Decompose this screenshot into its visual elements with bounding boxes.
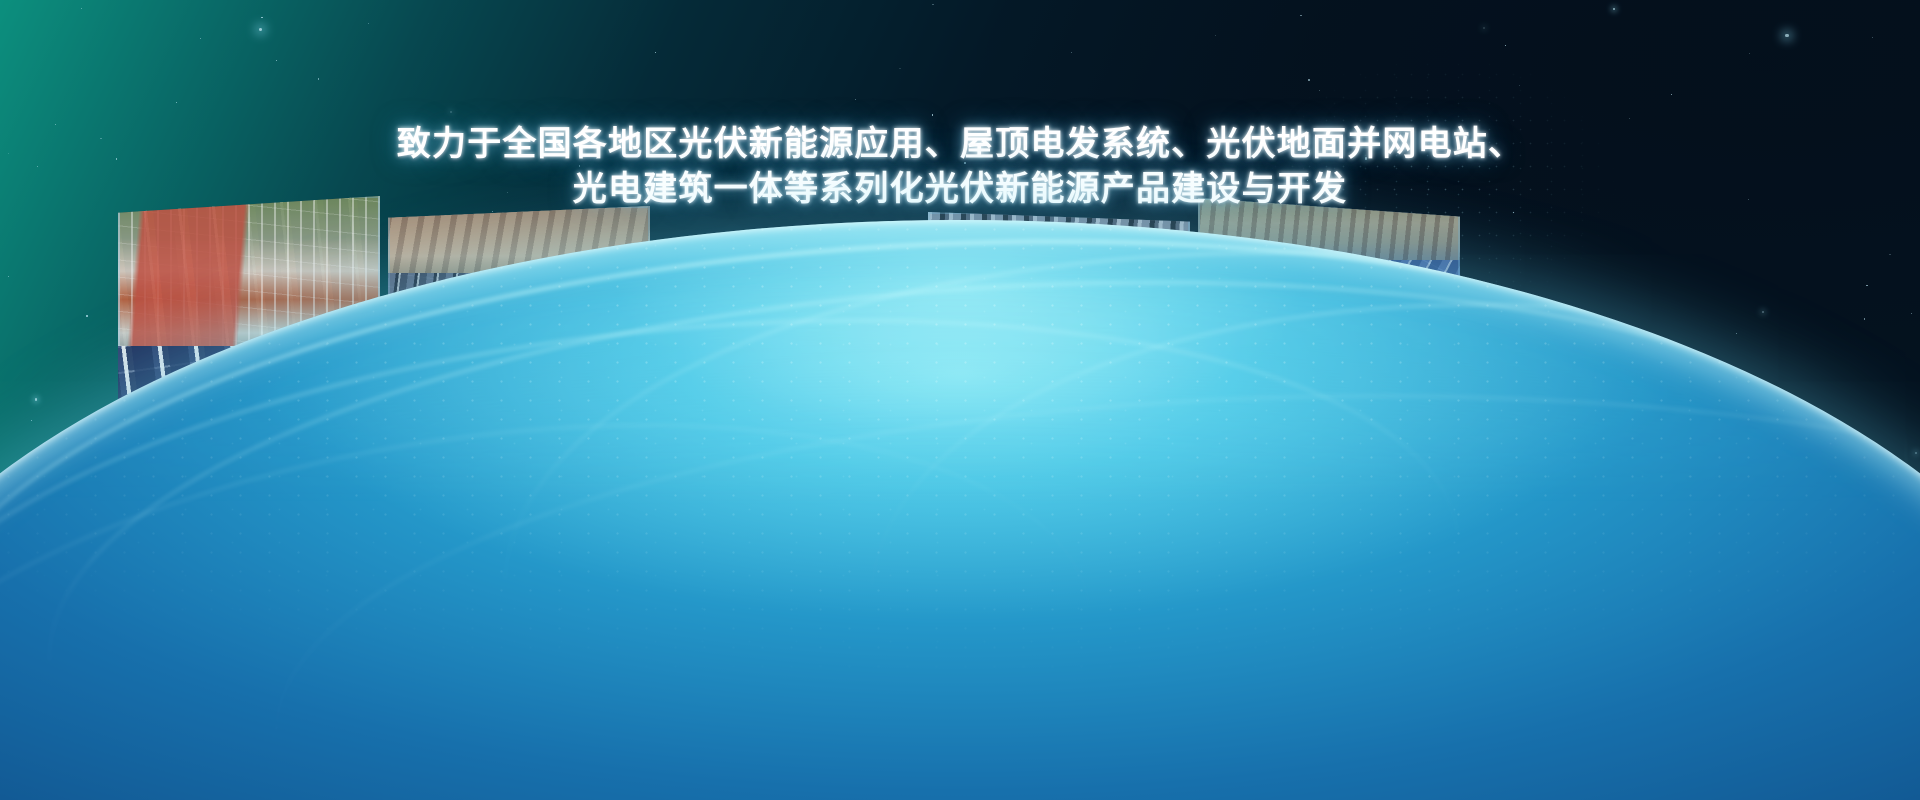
gallery-panel-3[interactable] xyxy=(658,248,920,568)
headline-line-1: 致力于全国各地区光伏新能源应用、屋顶电发系统、光伏地面并网电站、 xyxy=(0,122,1920,167)
photo-large-ground-mount-array xyxy=(388,206,650,598)
headline-line-2: 光电建筑一体等系列化光伏新能源产品建设与开发 xyxy=(0,167,1920,212)
photo-gallery-fan xyxy=(0,0,1920,800)
gallery-panel-4[interactable] xyxy=(928,212,1190,596)
photo-dense-panel-rows-topdown xyxy=(928,212,1190,596)
gallery-panel-5[interactable] xyxy=(1198,198,1460,612)
photo-factory-campus-rooftop-array xyxy=(118,196,380,614)
photo-blue-roof-warehouse-array xyxy=(1198,198,1460,612)
gallery-panel-1[interactable] xyxy=(118,196,380,614)
photo-industrial-rooftop-low-angle xyxy=(658,248,920,568)
headline-block: 致力于全国各地区光伏新能源应用、屋顶电发系统、光伏地面并网电站、 光电建筑一体等… xyxy=(0,122,1920,212)
promo-banner: 致力于全国各地区光伏新能源应用、屋顶电发系统、光伏地面并网电站、 光电建筑一体等… xyxy=(0,0,1920,800)
gallery-panel-2[interactable] xyxy=(388,206,650,598)
